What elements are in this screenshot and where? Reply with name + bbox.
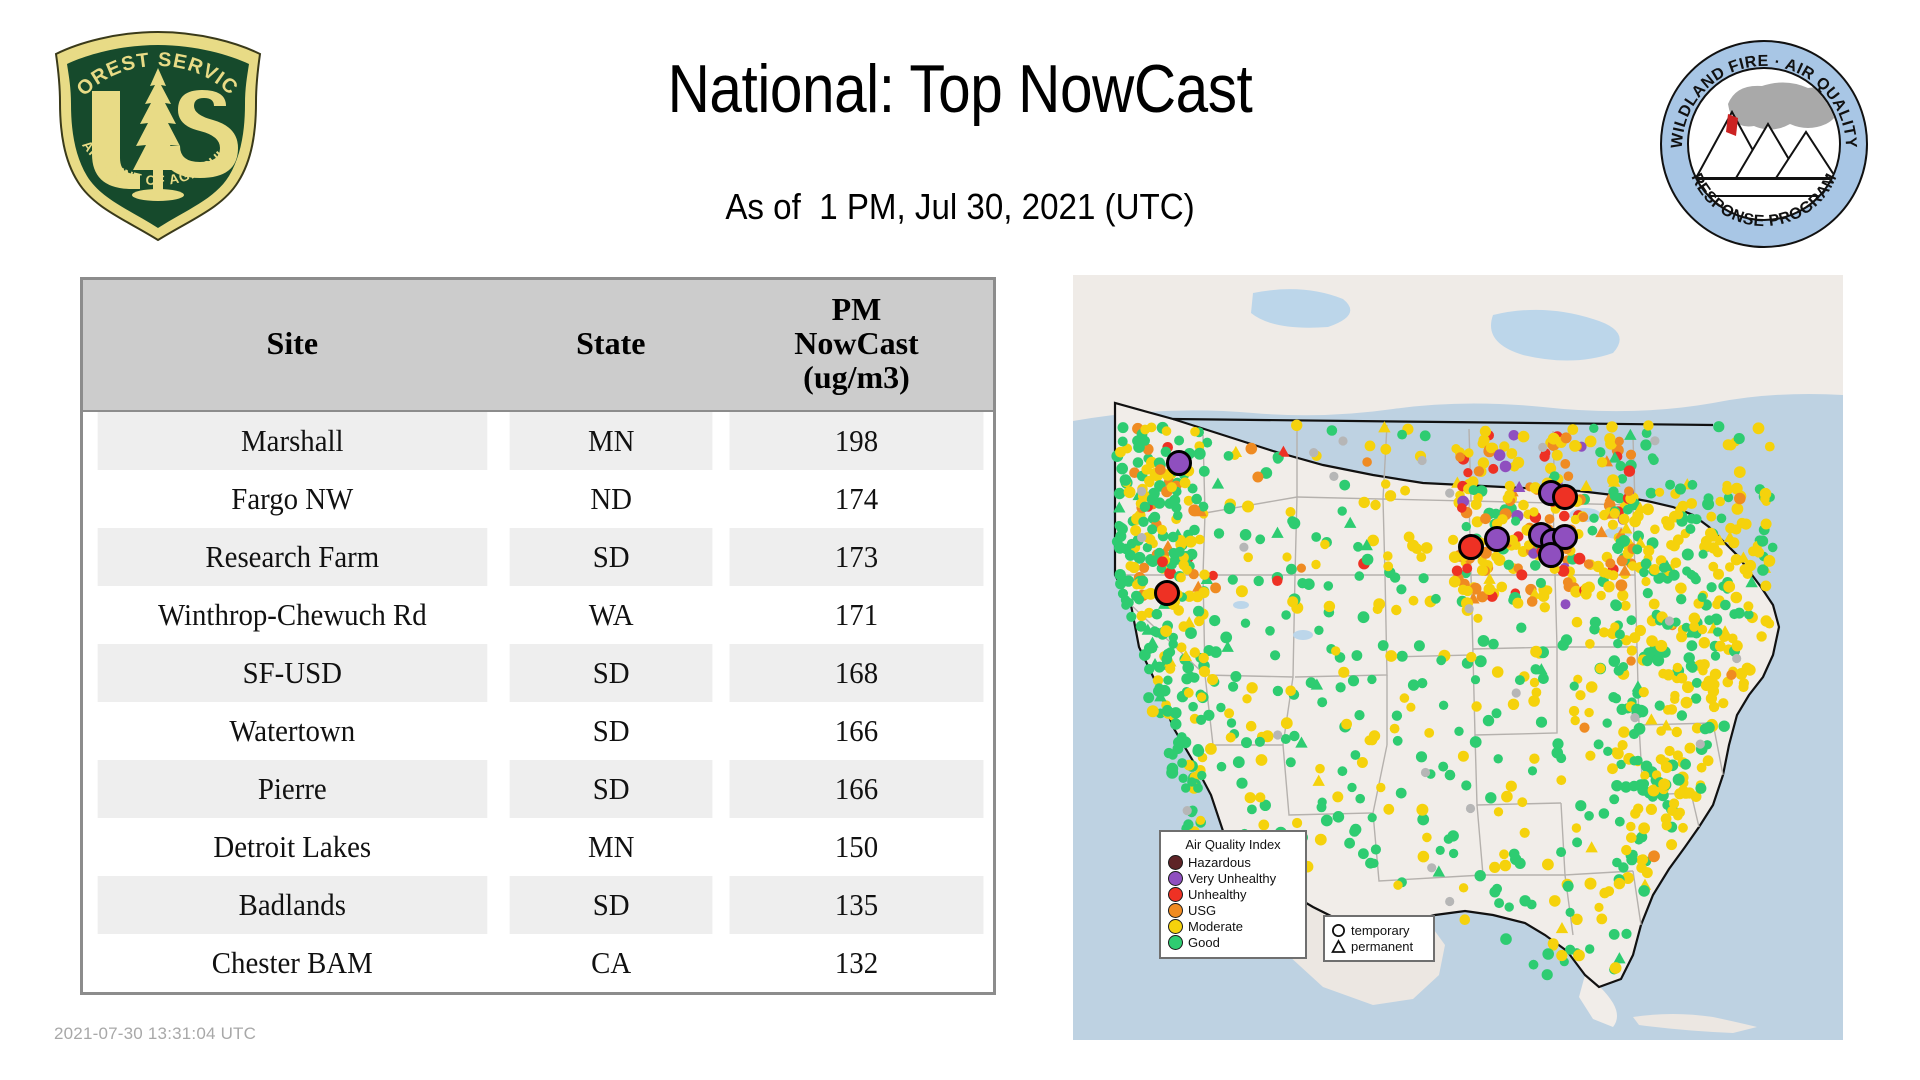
monitor-marker-temporary <box>1471 701 1481 711</box>
monitor-marker-temporary <box>1678 823 1688 833</box>
monitor-marker-temporary <box>1380 444 1391 455</box>
monitor-marker-temporary <box>1698 625 1707 634</box>
monitor-marker-temporary <box>1761 519 1772 530</box>
top-site-marker[interactable] <box>1486 528 1509 551</box>
aqi-legend-row: USG <box>1168 903 1298 918</box>
monitor-marker-temporary <box>1717 514 1727 524</box>
monitor-marker-temporary <box>1460 914 1471 925</box>
cell-state: SD <box>509 528 712 586</box>
monitor-marker-temporary <box>1536 578 1546 588</box>
monitor-marker-temporary <box>1228 682 1238 692</box>
monitor-marker-temporary <box>1697 763 1707 773</box>
monitor-marker-temporary <box>1682 549 1694 561</box>
monitor-marker-temporary <box>1670 695 1679 704</box>
monitor-marker-temporary <box>1169 495 1180 506</box>
monitor-marker-temporary <box>1120 474 1132 486</box>
monitor-marker-temporary <box>1489 862 1500 873</box>
monitor-marker-temporary <box>1281 717 1293 729</box>
monitor-marker-temporary <box>1314 626 1323 635</box>
monitor-marker-temporary <box>1640 439 1651 450</box>
monitor-marker-temporary <box>1691 693 1701 703</box>
top-site-marker[interactable] <box>1460 536 1483 559</box>
monitor-marker-temporary <box>1646 488 1657 499</box>
monitor-marker-temporary <box>1765 619 1775 629</box>
monitor-marker-temporary <box>1597 591 1606 600</box>
monitor-marker-temporary <box>1610 599 1621 610</box>
cell-pm-value: 132 <box>730 934 984 992</box>
monitor-marker-temporary <box>1483 715 1494 726</box>
monitor-marker-nodata <box>1538 443 1547 452</box>
monitor-marker-temporary <box>1358 611 1370 623</box>
monitor-marker-temporary <box>1575 800 1586 811</box>
monitor-marker-temporary <box>1500 860 1512 872</box>
monitor-marker-temporary <box>1416 804 1428 816</box>
monitor-marker-temporary <box>1197 771 1206 780</box>
monitor-marker-temporary <box>1566 908 1575 917</box>
monitor-marker-temporary <box>1571 716 1580 725</box>
monitor-marker-temporary <box>1242 501 1254 513</box>
monitor-marker-temporary <box>1707 582 1717 592</box>
monitor-marker-temporary <box>1718 698 1728 708</box>
monitor-marker-temporary <box>1545 514 1555 524</box>
monitor-marker-temporary <box>1713 421 1724 432</box>
cell-state: SD <box>509 876 712 934</box>
page-subtitle: As of 1 PM, Jul 30, 2021 (UTC) <box>408 186 1512 228</box>
monitor-marker-temporary <box>1179 774 1188 783</box>
monitor-marker-temporary <box>1744 664 1755 675</box>
monitor-marker-temporary <box>1585 751 1595 761</box>
monitor-marker-temporary <box>1464 448 1473 457</box>
cell-pm-value: 168 <box>730 644 984 702</box>
monitor-marker-temporary <box>1739 678 1749 688</box>
monitor-marker-temporary <box>1569 440 1581 452</box>
monitor-marker-temporary <box>1338 766 1348 776</box>
monitor-marker-temporary <box>1649 564 1660 575</box>
monitor-marker-temporary <box>1603 747 1612 756</box>
monitor-marker-nodata <box>1650 436 1659 445</box>
monitor-marker-temporary <box>1512 541 1521 550</box>
monitor-marker-temporary <box>1680 759 1691 770</box>
monitor-marker-temporary <box>1246 443 1258 455</box>
monitor-marker-temporary <box>1704 493 1714 503</box>
monitor-marker-temporary <box>1355 794 1365 804</box>
monitor-marker-temporary <box>1529 507 1538 516</box>
aqi-legend: Air Quality Index HazardousVery Unhealth… <box>1159 830 1307 959</box>
monitor-marker-temporary <box>1354 710 1364 720</box>
monitor-marker-temporary <box>1177 642 1187 652</box>
monitor-marker-temporary <box>1383 551 1393 561</box>
monitor-marker-temporary <box>1167 763 1179 775</box>
monitor-marker-temporary <box>1629 729 1639 739</box>
cell-site: Fargo NW <box>98 470 487 528</box>
monitor-marker-temporary <box>1676 631 1687 642</box>
monitor-marker-temporary <box>1552 738 1563 749</box>
monitor-marker-temporary <box>1720 600 1731 611</box>
monitor-marker-temporary <box>1383 804 1394 815</box>
aqi-legend-label: Hazardous <box>1188 856 1251 869</box>
monitor-marker-temporary <box>1367 675 1376 684</box>
aqi-legend-label: Unhealthy <box>1188 888 1247 901</box>
monitor-marker-nodata <box>1445 897 1454 906</box>
monitor-marker-nodata <box>1273 730 1282 739</box>
monitor-marker-temporary <box>1365 858 1376 869</box>
top-site-marker[interactable] <box>1554 486 1577 509</box>
monitor-marker-temporary <box>1754 547 1764 557</box>
monitor-marker-temporary <box>1517 797 1527 807</box>
monitor-marker-temporary <box>1563 881 1574 892</box>
monitor-marker-temporary <box>1673 663 1683 673</box>
monitor-marker-temporary <box>1768 543 1778 553</box>
monitor-marker-temporary <box>1719 721 1730 732</box>
monitor-marker-temporary <box>1173 511 1183 521</box>
monitor-marker-temporary <box>1492 666 1504 678</box>
monitor-marker-temporary <box>1448 535 1458 545</box>
monitor-marker-temporary <box>1436 846 1445 855</box>
monitor-marker-temporary <box>1270 650 1280 660</box>
monitor-marker-temporary <box>1333 811 1345 823</box>
monitor-marker-temporary <box>1321 815 1333 827</box>
monitor-marker-temporary <box>1753 422 1765 434</box>
monitor-marker-temporary <box>1286 757 1296 767</box>
monitor-marker-temporary <box>1556 847 1566 857</box>
monitor-marker-temporary <box>1193 744 1204 755</box>
monitor-marker-temporary <box>1338 667 1349 678</box>
table-row: SF-USDSD168 <box>83 644 993 702</box>
monitor-marker-temporary <box>1190 647 1200 657</box>
monitor-marker-temporary <box>1184 688 1194 698</box>
monitor-marker-temporary <box>1561 634 1572 645</box>
monitor-marker-temporary <box>1632 544 1642 554</box>
monitor-marker-temporary <box>1193 783 1203 793</box>
aqi-legend-row: Very Unhealthy <box>1168 871 1298 886</box>
monitor-marker-temporary <box>1118 437 1128 447</box>
top-site-marker[interactable] <box>1168 452 1191 475</box>
monitor-marker-temporary <box>1675 483 1686 494</box>
cell-state: SD <box>509 760 712 818</box>
monitor-marker-temporary <box>1638 885 1650 897</box>
monitor-marker-temporary <box>1324 581 1334 591</box>
usfs-forest-service-logo: FOREST SERVICE DEPARTMENT OF AGRICULTURE <box>48 28 268 243</box>
monitor-marker-temporary <box>1599 510 1610 521</box>
monitor-marker-temporary <box>1572 823 1581 832</box>
monitor-marker-temporary <box>1664 520 1674 530</box>
monitor-marker-temporary <box>1149 512 1160 523</box>
monitor-marker-temporary <box>1127 539 1137 549</box>
monitor-marker-temporary <box>1199 653 1209 663</box>
monitor-marker-temporary <box>1518 431 1530 443</box>
monitor-marker-temporary <box>1508 699 1519 710</box>
cell-state: SD <box>509 644 712 702</box>
monitor-marker-temporary <box>1646 804 1657 815</box>
aqi-swatch-icon <box>1168 887 1183 902</box>
monitor-marker-temporary <box>1710 669 1721 680</box>
monitor-marker-temporary <box>1451 444 1460 453</box>
monitor-marker-temporary <box>1320 540 1330 550</box>
monitor-marker-temporary <box>1530 646 1542 658</box>
wfaqrp-program-logo: WILDLAND FIRE · AIR QUALITY RESPONSE PRO… <box>1658 38 1870 250</box>
monitor-marker-temporary <box>1641 577 1650 586</box>
monitor-marker-temporary <box>1471 675 1480 684</box>
monitor-marker-temporary <box>1627 615 1637 625</box>
monitor-marker-temporary <box>1134 595 1144 605</box>
monitor-marker-temporary <box>1561 599 1571 609</box>
cell-pm-value: 166 <box>730 760 984 818</box>
monitor-marker-temporary <box>1286 507 1296 517</box>
monitor-marker-temporary <box>1489 887 1500 898</box>
monitor-marker-temporary <box>1655 488 1664 497</box>
monitor-marker-temporary <box>1723 439 1734 450</box>
monitor-marker-temporary <box>1595 447 1605 457</box>
monitor-marker-temporary <box>1655 701 1665 711</box>
monitor-marker-temporary <box>1616 579 1628 591</box>
monitor-marker-temporary <box>1643 420 1653 430</box>
monitor-marker-temporary <box>1540 602 1550 612</box>
monitor-marker-temporary <box>1723 581 1735 593</box>
monitor-marker-temporary <box>1370 500 1380 510</box>
monitor-marker-temporary <box>1406 703 1415 712</box>
legend-label-permanent: permanent <box>1351 940 1413 953</box>
monitor-marker-temporary <box>1673 811 1683 821</box>
monitor-marker-temporary <box>1385 490 1396 501</box>
monitor-marker-temporary <box>1217 762 1227 772</box>
monitor-marker-temporary <box>1613 544 1623 554</box>
monitor-marker-temporary <box>1409 596 1419 606</box>
monitor-marker-temporary <box>1511 517 1520 526</box>
monitor-marker-temporary <box>1344 838 1355 849</box>
cell-state: WA <box>509 586 712 644</box>
monitor-marker-temporary <box>1542 948 1554 960</box>
monitor-marker-temporary <box>1457 503 1467 513</box>
monitor-marker-nodata <box>1465 604 1474 613</box>
monitor-marker-temporary <box>1542 969 1553 980</box>
cell-site: Badlands <box>98 876 487 934</box>
monitor-marker-temporary <box>1708 686 1719 697</box>
monitor-marker-temporary <box>1317 802 1327 812</box>
monitor-marker-temporary <box>1713 627 1722 636</box>
table-header-row: Site State PM NowCast (ug/m3) <box>83 280 993 411</box>
monitor-marker-temporary <box>1731 483 1743 495</box>
monitor-marker-temporary <box>1611 694 1621 704</box>
monitor-marker-temporary <box>1710 614 1722 626</box>
monitor-marker-temporary <box>1669 540 1680 551</box>
monitor-marker-temporary <box>1469 485 1479 495</box>
permanent-triangle-icon <box>1331 939 1346 954</box>
monitor-marker-temporary <box>1400 486 1410 496</box>
monitor-marker-temporary <box>1640 771 1649 780</box>
monitor-marker-temporary <box>1196 715 1206 725</box>
monitor-marker-temporary <box>1692 678 1702 688</box>
monitor-marker-temporary <box>1488 639 1499 650</box>
monitor-marker-nodata <box>1512 688 1521 697</box>
monitor-marker-temporary <box>1619 662 1628 671</box>
table-row: PierreSD166 <box>83 760 993 818</box>
monitor-marker-temporary <box>1677 710 1687 720</box>
monitor-marker-temporary <box>1444 834 1454 844</box>
monitor-marker-temporary <box>1189 525 1200 536</box>
monitor-marker-temporary <box>1188 702 1198 712</box>
monitor-marker-temporary <box>1764 555 1776 567</box>
monitor-marker-temporary <box>1484 583 1496 595</box>
monitor-marker-temporary <box>1725 562 1734 571</box>
monitor-marker-temporary <box>1236 778 1247 789</box>
monitor-marker-temporary <box>1743 601 1753 611</box>
monitor-marker-temporary <box>1291 420 1302 431</box>
monitor-marker-temporary <box>1463 468 1472 477</box>
monitor-marker-temporary <box>1390 572 1400 582</box>
monitor-marker-temporary <box>1199 466 1210 477</box>
monitor-marker-temporary <box>1164 748 1174 758</box>
monitor-marker-temporary <box>1699 637 1710 648</box>
monitor-marker-temporary <box>1459 883 1468 892</box>
monitor-marker-temporary <box>1124 486 1136 498</box>
monitor-marker-temporary <box>1673 774 1685 786</box>
aqi-swatch-icon <box>1168 903 1183 918</box>
monitor-marker-temporary <box>1163 649 1173 659</box>
monitor-marker-temporary <box>1594 903 1603 912</box>
cell-pm-value: 171 <box>730 586 984 644</box>
aqi-legend-row: Unhealthy <box>1168 887 1298 902</box>
monitor-marker-temporary <box>1618 726 1629 737</box>
monitor-marker-temporary <box>1281 734 1291 744</box>
top-site-marker[interactable] <box>1540 544 1563 567</box>
monitor-marker-temporary <box>1165 664 1175 674</box>
monitor-marker-temporary <box>1195 535 1205 545</box>
monitor-marker-temporary <box>1141 464 1152 475</box>
aqi-swatch-icon <box>1168 919 1183 934</box>
page-title: National: Top NowCast <box>444 50 1476 128</box>
monitor-marker-temporary <box>1439 701 1448 710</box>
monitor-marker-temporary <box>1527 596 1538 607</box>
top-site-marker[interactable] <box>1156 582 1179 605</box>
monitor-marker-temporary <box>1497 514 1507 524</box>
monitor-marker-temporary <box>1626 832 1637 843</box>
monitor-marker-temporary <box>1672 727 1682 737</box>
monitor-marker-temporary <box>1282 552 1291 561</box>
monitor-marker-temporary <box>1438 762 1448 772</box>
monitor-marker-temporary <box>1273 454 1282 463</box>
monitor-marker-temporary <box>1385 650 1397 662</box>
monitor-marker-temporary <box>1506 448 1517 459</box>
monitor-marker-temporary <box>1560 459 1570 469</box>
monitor-marker-temporary <box>1311 532 1321 542</box>
monitor-marker-temporary <box>1615 629 1625 639</box>
monitor-marker-temporary <box>1669 570 1680 581</box>
monitor-marker-temporary <box>1196 816 1205 825</box>
monitor-marker-temporary <box>1210 583 1221 594</box>
monitor-marker-temporary <box>1192 591 1203 602</box>
monitor-marker-temporary <box>1677 673 1688 684</box>
cell-site: Winthrop-Chewuch Rd <box>98 586 487 644</box>
monitor-marker-nodata <box>1183 806 1192 815</box>
monitor-marker-temporary <box>1241 737 1252 748</box>
monitor-marker-temporary <box>1552 450 1563 461</box>
monitor-marker-temporary <box>1581 583 1592 594</box>
monitor-marker-temporary <box>1350 824 1361 835</box>
monitor-marker-temporary <box>1632 511 1643 522</box>
monitor-marker-temporary <box>1462 563 1472 573</box>
monitor-marker-temporary <box>1371 844 1381 854</box>
cell-site: SF-USD <box>98 644 487 702</box>
monitor-marker-temporary <box>1396 788 1407 799</box>
cell-state: CA <box>509 934 712 992</box>
aqi-monitor-map[interactable]: Air Quality Index HazardousVery Unhealth… <box>1073 275 1843 1040</box>
monitor-marker-temporary <box>1494 807 1503 816</box>
monitor-marker-temporary <box>1199 570 1209 580</box>
monitor-marker-temporary <box>1281 610 1291 620</box>
monitor-marker-temporary <box>1610 962 1622 974</box>
monitor-marker-temporary <box>1594 739 1604 749</box>
monitor-marker-temporary <box>1485 792 1496 803</box>
monitor-marker-temporary <box>1699 550 1708 559</box>
monitor-marker-temporary <box>1478 635 1490 647</box>
monitor-marker-temporary <box>1408 679 1419 690</box>
monitor-marker-temporary <box>1125 550 1136 561</box>
monitor-marker-temporary <box>1224 708 1234 718</box>
monitor-marker-temporary <box>1757 536 1768 547</box>
monitor-marker-temporary <box>1245 792 1256 803</box>
monitor-marker-temporary <box>1381 479 1390 488</box>
monitor-marker-temporary <box>1227 718 1236 727</box>
monitor-marker-temporary <box>1574 553 1586 565</box>
monitor-marker-temporary <box>1138 517 1148 527</box>
monitor-marker-temporary <box>1255 737 1265 747</box>
monitor-marker-temporary <box>1606 421 1617 432</box>
monitor-marker-temporary <box>1595 663 1605 673</box>
monitor-marker-temporary <box>1331 646 1340 655</box>
monitor-marker-temporary <box>1505 481 1515 491</box>
monitor-marker-temporary <box>1147 524 1157 534</box>
monitor-marker-nodata <box>1338 436 1347 445</box>
monitor-marker-temporary <box>1416 751 1427 762</box>
cell-state: MN <box>509 818 712 876</box>
monitor-marker-temporary <box>1715 497 1725 507</box>
monitor-marker-temporary <box>1536 717 1547 728</box>
monitor-marker-temporary <box>1642 655 1653 666</box>
monitor-marker-temporary <box>1191 494 1202 505</box>
monitor-marker-temporary <box>1619 514 1630 525</box>
cell-pm-value: 135 <box>730 876 984 934</box>
monitor-marker-temporary <box>1494 898 1504 908</box>
column-header-site: Site <box>83 280 502 411</box>
monitor-marker-temporary <box>1285 686 1296 697</box>
monitor-marker-temporary <box>1247 805 1257 815</box>
table-row: MarshallMN198 <box>83 411 993 470</box>
monitor-marker-temporary <box>1133 457 1144 468</box>
monitor-marker-temporary <box>1674 510 1684 520</box>
monitor-marker-temporary <box>1188 504 1200 516</box>
monitor-marker-temporary <box>1711 651 1720 660</box>
monitor-marker-temporary <box>1584 811 1594 821</box>
monitor-marker-temporary <box>1610 492 1619 501</box>
footer-timestamp: 2021-07-30 13:31:04 UTC <box>54 1024 256 1044</box>
monitor-marker-temporary <box>1422 833 1432 843</box>
monitor-marker-temporary <box>1506 781 1517 792</box>
monitor-marker-temporary <box>1604 569 1614 579</box>
monitor-marker-temporary <box>1407 540 1419 552</box>
monitor-marker-temporary <box>1143 692 1154 703</box>
monitor-marker-temporary <box>1197 692 1206 701</box>
monitor-marker-temporary <box>1289 731 1299 741</box>
monitor-marker-temporary <box>1477 565 1488 576</box>
monitor-marker-temporary <box>1657 572 1667 582</box>
monitor-marker-temporary <box>1494 754 1503 763</box>
monitor-marker-temporary <box>1114 488 1125 499</box>
monitor-marker-temporary <box>1136 621 1147 632</box>
monitor-marker-temporary <box>1558 565 1570 577</box>
cell-state: MN <box>509 411 712 470</box>
monitor-marker-temporary <box>1685 743 1696 754</box>
monitor-marker-temporary <box>1603 718 1612 727</box>
